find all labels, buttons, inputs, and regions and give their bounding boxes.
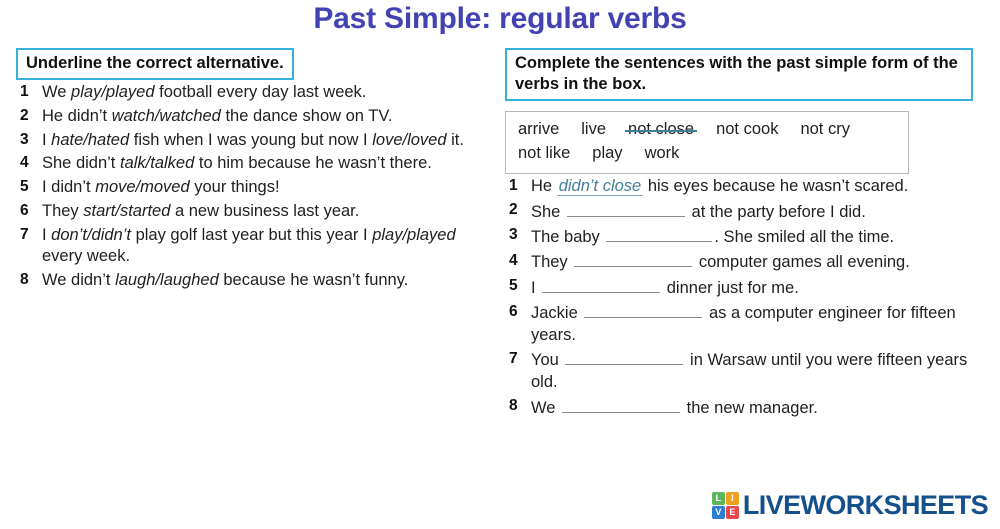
sentence-text: . She smiled all the time.: [714, 228, 894, 246]
word-bank-item[interactable]: not cry: [800, 118, 850, 141]
exercise-number: 6: [20, 201, 29, 221]
sentence-text: We: [531, 399, 560, 417]
exercise-item: 3The baby . She smiled all the time.: [505, 225, 985, 248]
sentence-text: every week.: [42, 247, 130, 265]
sentence-text: at the party before I did.: [687, 203, 866, 221]
sentence-text: to him because he wasn’t there.: [194, 154, 432, 172]
exercise-sentence: I didn’t move/moved your things!: [42, 178, 280, 196]
sentence-text: play golf last year but this year I: [131, 226, 372, 244]
sentence-text: The baby: [531, 228, 604, 246]
liveworksheets-logo: L I V E LIVEWORKSHEETS: [712, 490, 988, 521]
sentence-text: because he wasn’t funny.: [219, 271, 409, 289]
exercise-item: 1He didn’t close his eyes because he was…: [505, 176, 985, 198]
sentence-text: I: [531, 279, 540, 297]
alternative-options[interactable]: start/started: [83, 202, 170, 220]
exercise-item: 8We didn’t laugh/laughed because he wasn…: [16, 270, 486, 292]
sentence-text: He: [531, 177, 557, 195]
exercise-sentence: She at the party before I did.: [531, 203, 866, 221]
alternative-options[interactable]: play/played: [372, 226, 455, 244]
exercise-item: 2He didn’t watch/watched the dance show …: [16, 106, 486, 128]
word-bank-item[interactable]: live: [581, 118, 606, 141]
exercise-item: 8We the new manager.: [505, 396, 985, 419]
exercise-number: 1: [20, 82, 29, 102]
exercise-item: 5I didn’t move/moved your things!: [16, 177, 486, 199]
answer-blank[interactable]: [606, 225, 712, 242]
exercise-number: 8: [20, 270, 29, 290]
exercise-sentence: He didn’t watch/watched the dance show o…: [42, 107, 392, 125]
sentence-text: He didn’t: [42, 107, 112, 125]
sentence-text: it.: [447, 131, 464, 149]
exercise-item: 4They computer games all evening.: [505, 251, 985, 274]
exercise-sentence: He didn’t close his eyes because he wasn…: [531, 177, 908, 196]
exercise-number: 7: [20, 225, 29, 245]
exercise-sentence: Jackie as a computer engineer for fiftee…: [531, 304, 956, 344]
filled-answer[interactable]: didn’t close: [557, 177, 644, 196]
left-exercise-column: Underline the correct alternative. 1We p…: [16, 48, 486, 292]
exercise-number: 7: [509, 349, 518, 369]
exercise-sentence: They start/started a new business last y…: [42, 202, 359, 220]
exercise-number: 4: [20, 153, 29, 173]
sentence-text: I: [42, 226, 51, 244]
sentence-text: dinner just for me.: [662, 279, 799, 297]
alternative-options[interactable]: laugh/laughed: [115, 271, 219, 289]
sentence-text: We didn’t: [42, 271, 115, 289]
exercise-number: 5: [509, 276, 518, 296]
exercise-sentence: I hate/hated fish when I was young but n…: [42, 131, 464, 149]
sentence-text: She: [531, 203, 565, 221]
sentence-text: We: [42, 83, 71, 101]
word-bank-item[interactable]: not cook: [716, 118, 778, 141]
exercise-number: 6: [509, 302, 518, 322]
right-exercise-column: Complete the sentences with the past sim…: [505, 48, 985, 419]
answer-blank[interactable]: [542, 276, 660, 293]
sentence-text: I: [42, 131, 51, 149]
sentence-text: a new business last year.: [170, 202, 359, 220]
exercise-item: 7I don’t/didn’t play golf last year but …: [16, 225, 486, 269]
alternative-options[interactable]: don’t/didn’t: [51, 226, 131, 244]
exercise-item: 6They start/started a new business last …: [16, 201, 486, 223]
logo-cell-e: E: [726, 506, 739, 519]
page-title: Past Simple: regular verbs: [0, 2, 1000, 36]
sentence-text: his eyes because he wasn’t scared.: [643, 177, 908, 195]
exercise-number: 1: [509, 176, 518, 196]
word-bank-row-1: arrivelivenot closenot cooknot cry: [518, 118, 896, 141]
word-bank-row-2: not likeplaywork: [518, 142, 896, 165]
exercise-item: 7You in Warsaw until you were fifteen ye…: [505, 349, 985, 394]
exercise-number: 2: [509, 200, 518, 220]
answer-blank[interactable]: [584, 302, 702, 319]
alternative-options[interactable]: hate/hated: [51, 131, 129, 149]
sentence-text: the new manager.: [682, 399, 818, 417]
right-instruction-box: Complete the sentences with the past sim…: [505, 48, 973, 101]
exercise-sentence: We didn’t laugh/laughed because he wasn’…: [42, 271, 408, 289]
logo-cell-i: I: [726, 492, 739, 505]
word-bank-item[interactable]: arrive: [518, 118, 559, 141]
word-bank-item[interactable]: work: [645, 142, 680, 165]
answer-blank[interactable]: [565, 349, 683, 366]
exercise-item: 3I hate/hated fish when I was young but …: [16, 130, 486, 152]
alternative-options[interactable]: talk/talked: [120, 154, 194, 172]
exercise-sentence: They computer games all evening.: [531, 253, 910, 271]
exercise-sentence: I dinner just for me.: [531, 279, 799, 297]
exercise-item: 2She at the party before I did.: [505, 200, 985, 223]
exercise-sentence: I don’t/didn’t play golf last year but t…: [42, 226, 456, 266]
sentence-text: I didn’t: [42, 178, 95, 196]
logo-cell-v: V: [712, 506, 725, 519]
exercise-sentence: She didn’t talk/talked to him because he…: [42, 154, 432, 172]
sentence-text: She didn’t: [42, 154, 120, 172]
answer-blank[interactable]: [567, 200, 685, 217]
exercise-item: 1We play/played football every day last …: [16, 82, 486, 104]
answer-blank[interactable]: [574, 251, 692, 268]
alternative-options[interactable]: watch/watched: [112, 107, 221, 125]
alternative-options[interactable]: love/loved: [372, 131, 446, 149]
exercise-sentence: We the new manager.: [531, 399, 818, 417]
exercise-item: 4She didn’t talk/talked to him because h…: [16, 153, 486, 175]
sentence-text: football every day last week.: [155, 83, 367, 101]
exercise-item: 5I dinner just for me.: [505, 276, 985, 299]
exercise-number: 8: [509, 396, 518, 416]
word-bank-box: arrivelivenot closenot cooknot cry not l…: [505, 111, 909, 174]
logo-cell-l: L: [712, 492, 725, 505]
exercise-number: 4: [509, 251, 518, 271]
logo-wordmark: LIVEWORKSHEETS: [743, 490, 988, 521]
alternative-options[interactable]: play/played: [71, 83, 154, 101]
left-exercise-list: 1We play/played football every day last …: [16, 82, 486, 292]
exercise-sentence: The baby . She smiled all the time.: [531, 228, 894, 246]
sentence-text: Jackie: [531, 304, 582, 322]
sentence-text: They: [42, 202, 83, 220]
sentence-text: computer games all evening.: [694, 253, 910, 271]
exercise-number: 3: [20, 130, 29, 150]
sentence-text: your things!: [190, 178, 280, 196]
word-bank-item[interactable]: play: [592, 142, 622, 165]
sentence-text: You: [531, 351, 563, 369]
word-bank-item-used[interactable]: not close: [628, 118, 694, 141]
exercise-sentence: We play/played football every day last w…: [42, 83, 366, 101]
exercise-number: 5: [20, 177, 29, 197]
sentence-text: They: [531, 253, 572, 271]
liveworksheets-logo-mark: L I V E: [712, 492, 739, 519]
sentence-text: fish when I was young but now I: [129, 131, 372, 149]
word-bank-item[interactable]: not like: [518, 142, 570, 165]
answer-blank[interactable]: [562, 396, 680, 413]
alternative-options[interactable]: move/moved: [95, 178, 189, 196]
exercise-sentence: You in Warsaw until you were fifteen yea…: [531, 351, 967, 391]
right-exercise-list: 1He didn’t close his eyes because he was…: [505, 176, 985, 419]
exercise-number: 2: [20, 106, 29, 126]
exercise-number: 3: [509, 225, 518, 245]
sentence-text: the dance show on TV.: [221, 107, 393, 125]
left-instruction-box: Underline the correct alternative.: [16, 48, 294, 80]
exercise-item: 6Jackie as a computer engineer for fifte…: [505, 302, 985, 347]
